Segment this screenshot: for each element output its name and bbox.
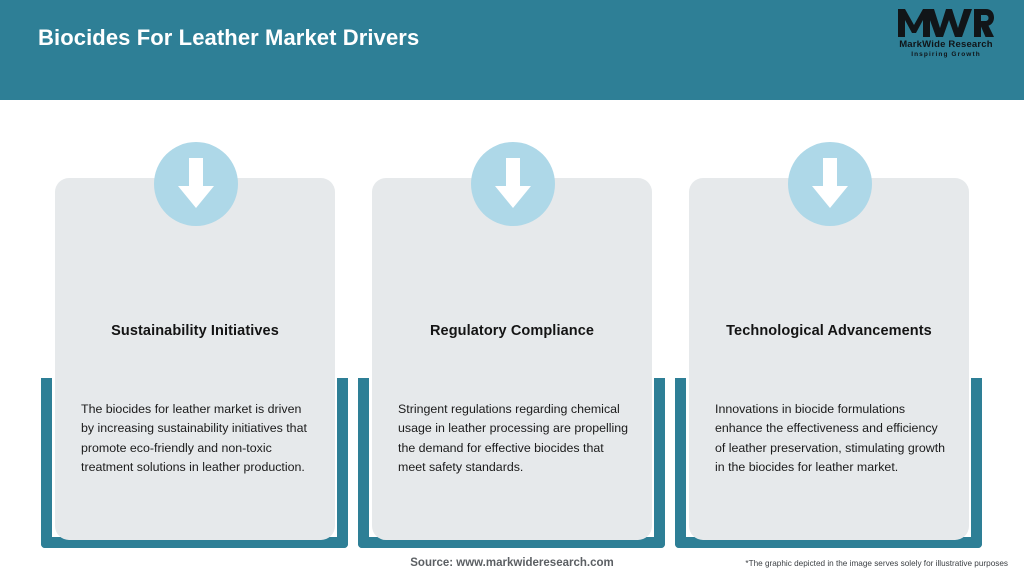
logo-tagline: Inspiring Growth: [886, 50, 1006, 59]
card-panel: Regulatory Compliance Stringent regulati…: [372, 178, 652, 540]
driver-card-1: Sustainability Initiatives The biocides …: [38, 100, 353, 576]
card-body-text: Stringent regulations regarding chemical…: [398, 400, 634, 477]
arrow-down-icon: [471, 142, 555, 226]
card-title: Sustainability Initiatives: [65, 323, 325, 339]
page-title: Biocides For Leather Market Drivers: [38, 25, 419, 51]
logo-company-name: MarkWide Research: [886, 39, 1006, 50]
arrow-down-icon: [154, 142, 238, 226]
card-panel: Technological Advancements Innovations i…: [689, 178, 969, 540]
card-title: Technological Advancements: [699, 323, 959, 339]
disclaimer-note: *The graphic depicted in the image serve…: [745, 559, 1008, 568]
company-logo: MarkWide Research Inspiring Growth: [886, 8, 1006, 66]
card-title: Regulatory Compliance: [382, 323, 642, 339]
logo-monogram-icon: [886, 8, 1006, 38]
driver-card-3: Technological Advancements Innovations i…: [672, 100, 987, 576]
card-body-text: Innovations in biocide formulations enha…: [715, 400, 951, 477]
card-panel: Sustainability Initiatives The biocides …: [55, 178, 335, 540]
header-bar: Biocides For Leather Market Drivers Mark…: [0, 0, 1024, 100]
arrow-down-icon: [788, 142, 872, 226]
driver-card-2: Regulatory Compliance Stringent regulati…: [355, 100, 670, 576]
card-body-text: The biocides for leather market is drive…: [81, 400, 317, 477]
main-canvas: Sustainability Initiatives The biocides …: [0, 100, 1024, 576]
